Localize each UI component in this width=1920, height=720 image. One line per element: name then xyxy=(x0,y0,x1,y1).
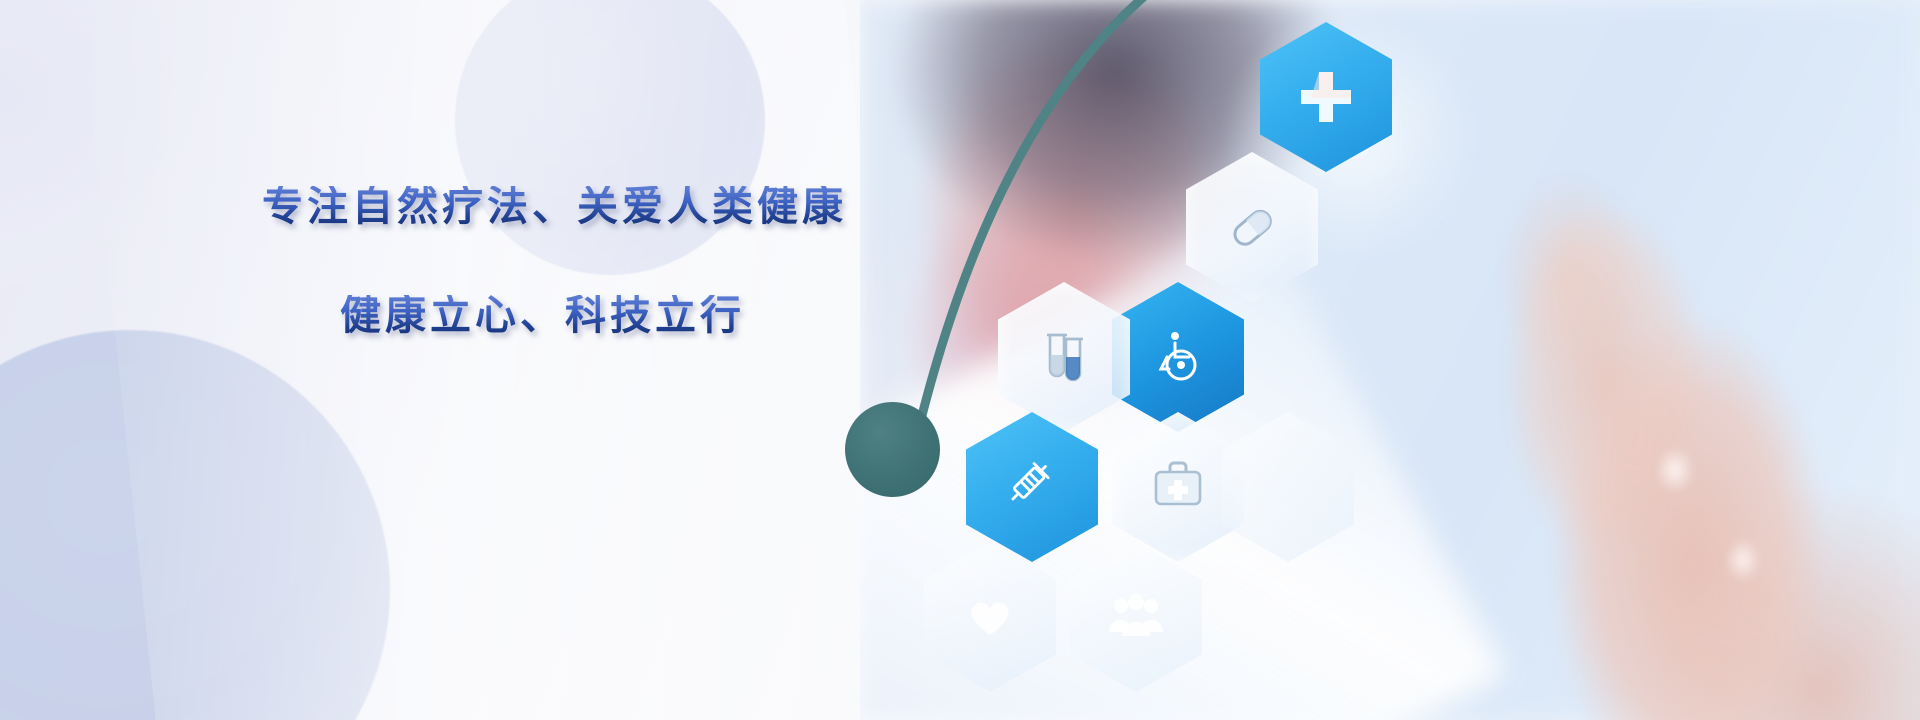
capsule-pill-icon xyxy=(1220,195,1284,259)
soft-circle-left-edge xyxy=(0,0,180,290)
heart-icon xyxy=(962,589,1018,645)
healthcare-hero-banner: 专注自然疗法、关爱人类健康 健康立心、科技立行 xyxy=(0,0,1920,720)
background-sheen xyxy=(78,0,922,720)
headline-line-1: 专注自然疗法、关爱人类健康 xyxy=(262,186,847,227)
syringe-icon xyxy=(1000,455,1064,519)
first-aid-kit-icon xyxy=(1148,457,1208,517)
soft-circle-bottom xyxy=(0,330,390,720)
headline-line-2: 健康立心、科技立行 xyxy=(340,295,847,336)
headline-block: 专注自然疗法、关爱人类健康 健康立心、科技立行 xyxy=(262,186,847,336)
fingernail-highlights xyxy=(1615,440,1815,660)
teal-dot-icon xyxy=(845,402,940,497)
people-group-icon xyxy=(1105,586,1167,648)
wheelchair-icon xyxy=(1148,327,1208,387)
test-tubes-icon xyxy=(1032,325,1096,389)
medical-cross-icon xyxy=(1295,66,1357,128)
